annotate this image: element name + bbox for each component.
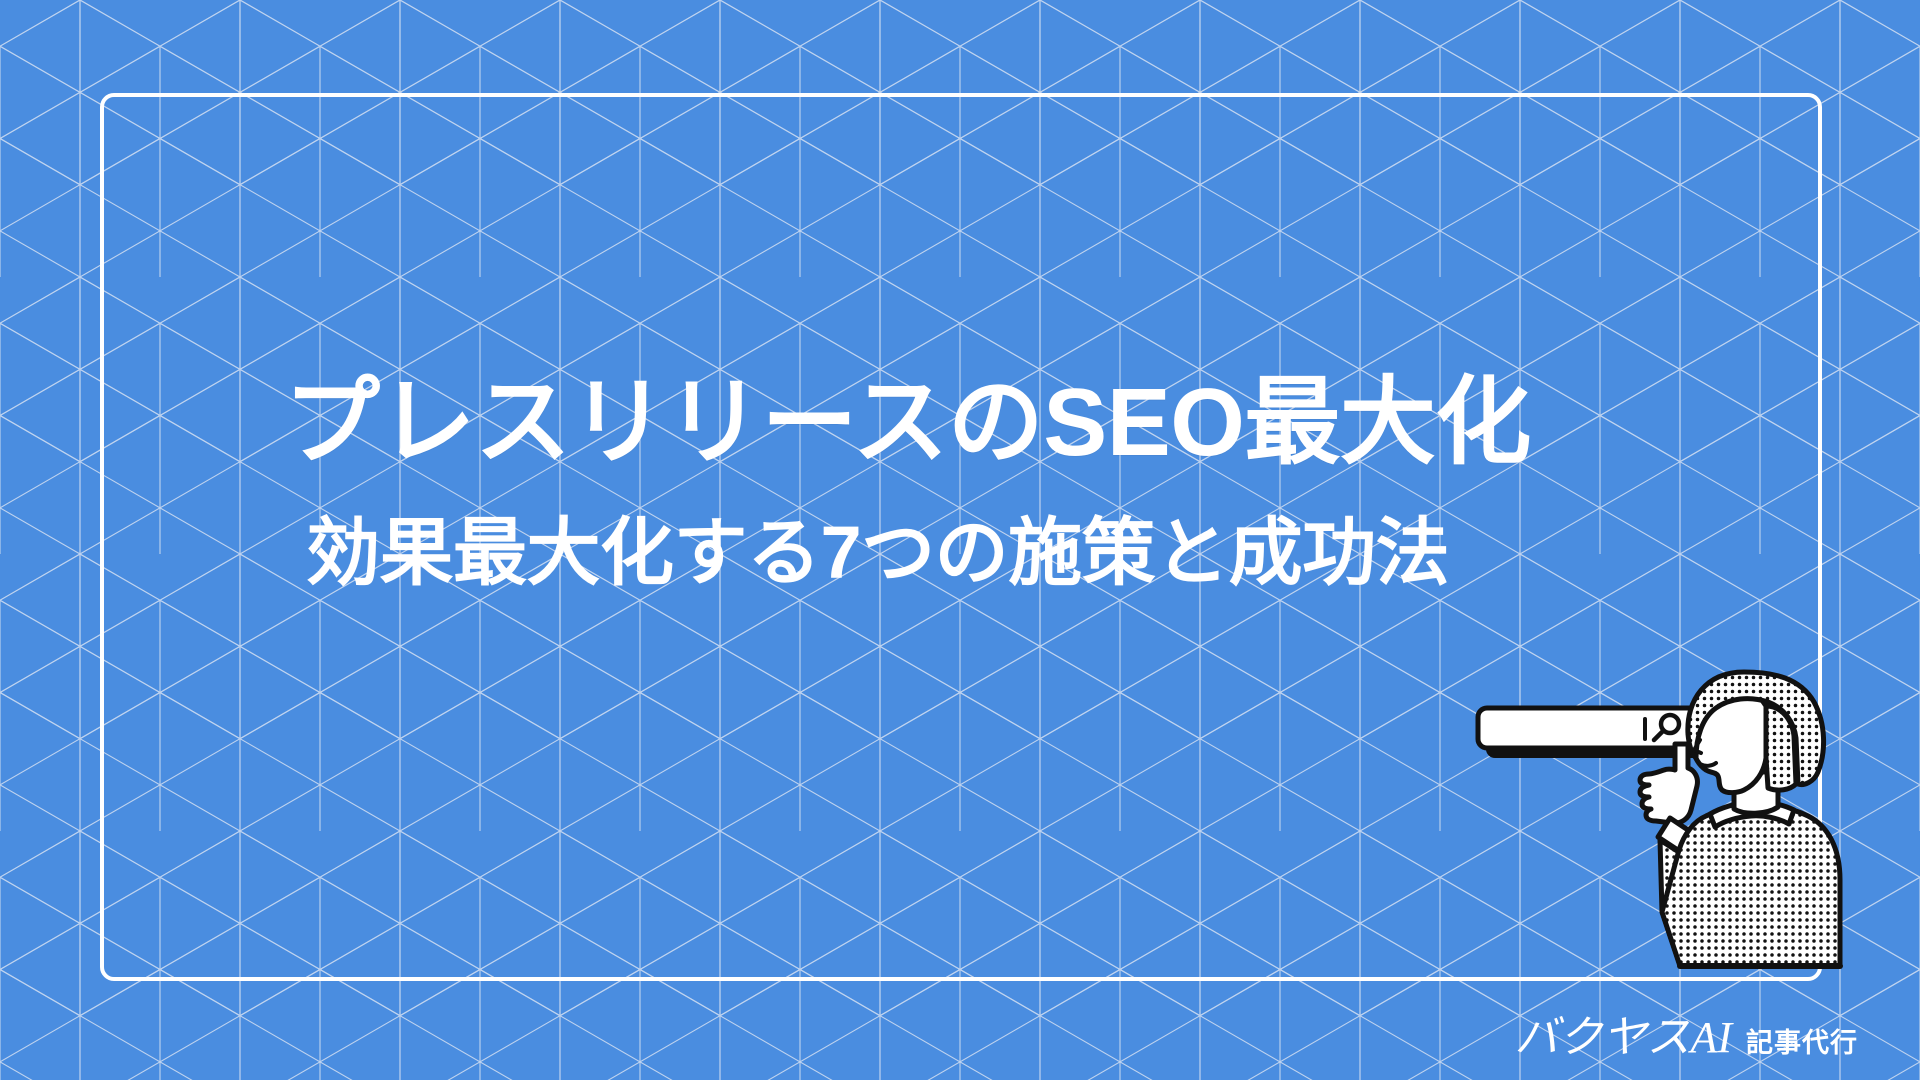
title-block: プレスリリースのSEO最大化 効果最大化する7つの施策と成功法 [0, 372, 1920, 593]
person-pointing-at-search-bar-illustration [1448, 666, 1868, 986]
brand-logo-subtitle: 記事代行 [1746, 1030, 1858, 1057]
brand-logo: バクヤスAI 記事代行 [1514, 1016, 1858, 1060]
thumbnail-canvas: プレスリリースのSEO最大化 効果最大化する7つの施策と成功法 [0, 0, 1920, 1080]
title-line-primary: プレスリリースのSEO最大化 [284, 372, 1920, 474]
title-line-secondary: 効果最大化する7つの施策と成功法 [284, 474, 1920, 593]
torso [1662, 805, 1840, 966]
brand-logo-mark: バクヤスAI [1514, 1016, 1732, 1060]
